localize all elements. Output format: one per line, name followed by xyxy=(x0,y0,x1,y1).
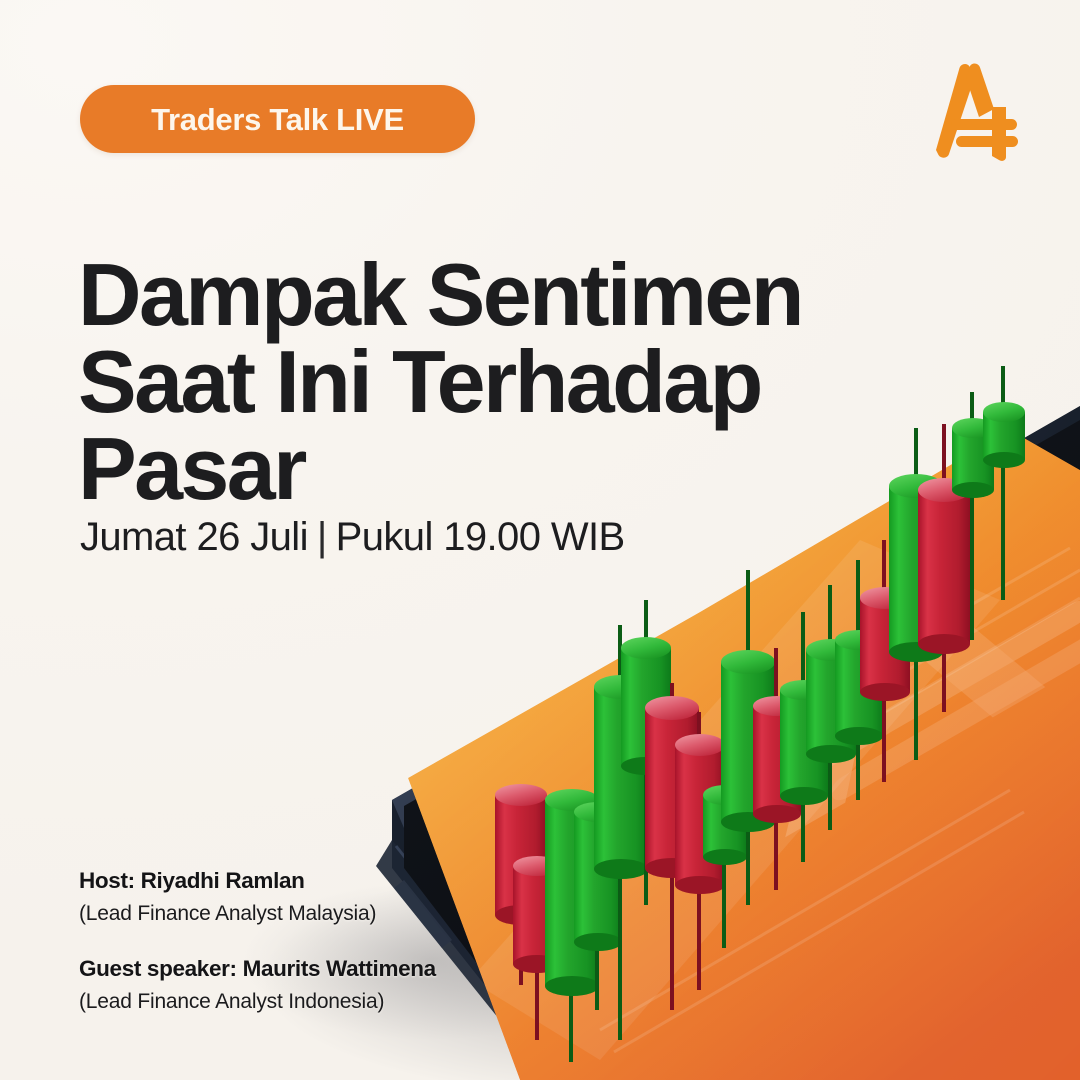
candle-bull xyxy=(952,392,994,640)
event-datetime: Jumat 26 Juli|Pukul 19.00 WIB xyxy=(80,515,625,560)
candle-bull xyxy=(545,789,599,1062)
promo-poster: Traders Talk LIVE Dampak Sentimen Saat I… xyxy=(0,0,1080,1080)
candle-bear xyxy=(918,424,970,712)
octa-a-logo-icon xyxy=(926,62,1022,162)
speaker-list: Host: Riyadhi Ramlan (Lead Finance Analy… xyxy=(79,866,549,1016)
candle-bull xyxy=(574,790,622,1010)
speaker-name: Host: Riyadhi Ramlan xyxy=(79,866,549,896)
candle-bull xyxy=(889,428,943,760)
speaker-host: Host: Riyadhi Ramlan (Lead Finance Analy… xyxy=(79,866,549,928)
live-badge: Traders Talk LIVE xyxy=(80,85,475,153)
live-badge-label: Traders Talk LIVE xyxy=(151,104,404,135)
candle-bear xyxy=(645,683,699,1010)
candle-bull xyxy=(983,366,1025,600)
speaker-role: (Lead Finance Analyst Malaysia) xyxy=(79,899,549,928)
candle-bear xyxy=(753,648,801,890)
candle-bear xyxy=(675,712,725,990)
speaker-name: Guest speaker: Maurits Wattimena xyxy=(79,954,549,984)
candle-bull xyxy=(806,585,856,830)
candle-bull xyxy=(721,570,775,905)
candle-bull xyxy=(703,780,747,948)
candle-bull xyxy=(594,625,648,1040)
event-time: Pukul 19.00 WIB xyxy=(336,515,625,559)
datetime-separator: | xyxy=(317,515,327,560)
event-date: Jumat 26 Juli xyxy=(80,515,308,559)
speaker-guest: Guest speaker: Maurits Wattimena (Lead F… xyxy=(79,954,549,1016)
candle-bull xyxy=(835,560,883,800)
candle-bull xyxy=(621,600,671,905)
candle-bull xyxy=(780,612,828,862)
octa-a-logo-watermark-icon xyxy=(752,518,1080,837)
speaker-role: (Lead Finance Analyst Indonesia) xyxy=(79,987,549,1016)
candle-bear xyxy=(860,540,910,782)
page-title: Dampak Sentimen Saat Ini Terhadap Pasar xyxy=(78,251,838,512)
